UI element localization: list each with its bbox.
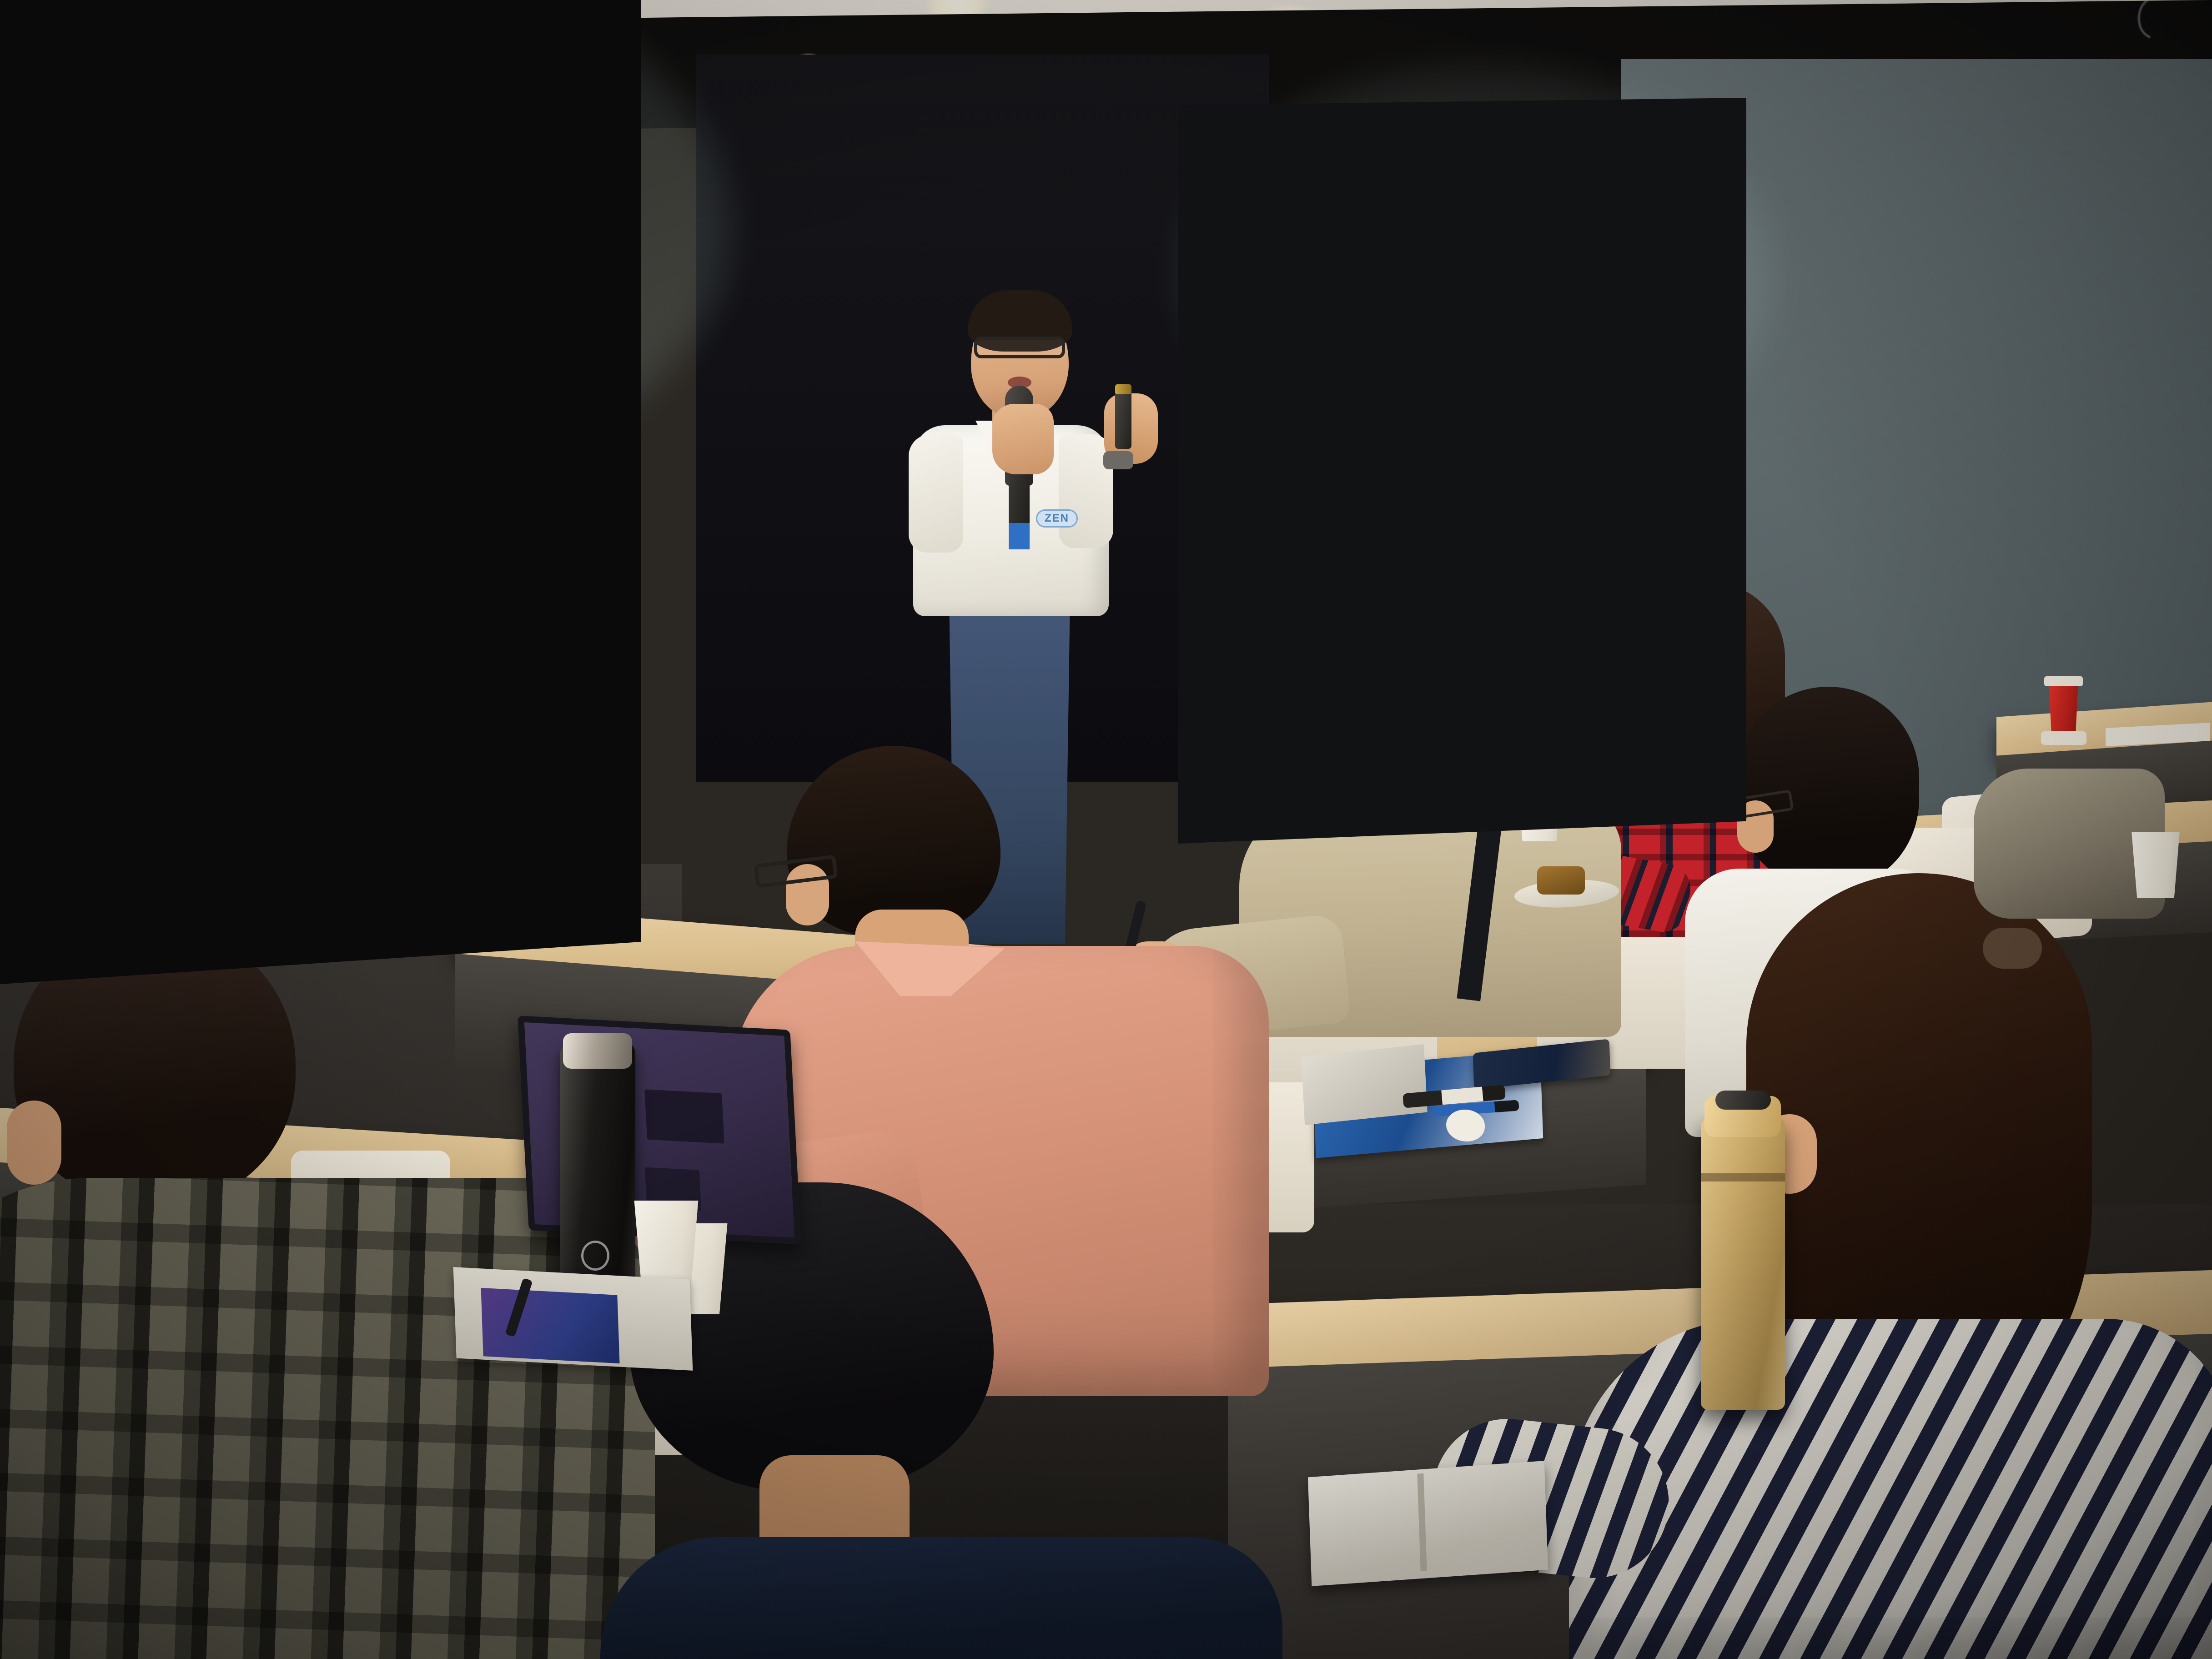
red-coffee-cup-lid [2044,676,2083,686]
notepad-open[interactable] [1308,1461,1548,1586]
microphone-band [1009,523,1030,549]
audience-striped-woman [1583,910,2212,1659]
brochure-left[interactable] [481,1288,619,1363]
white-shirt-man-hair [1737,687,1919,887]
presenter-shirt-logo-text: ZEN [1045,512,1069,525]
gold-thermos-cap-top [1715,1091,1771,1110]
lecture-hall-photo: 化 轉換率優化 otimization,CRO)，是 把網站的訪客變成顧客 程。… [0,0,2212,1659]
presenter-right-hand [992,404,1054,474]
presenter-wristwatch [1103,451,1133,469]
white-paper-cup-2[interactable] [630,1201,703,1287]
plaid-fg-ear [7,1101,61,1185]
red-coffee-cup[interactable] [2046,681,2081,738]
handout-mid[interactable] [1301,1044,1427,1125]
black-cap-top [600,1537,1282,1659]
gold-thermos-band [1701,1173,1785,1181]
white-paper-cup-3[interactable] [2128,832,2183,898]
black-water-bottle-cap[interactable] [563,1033,632,1069]
presenter-right-sleeve [1059,434,1113,548]
striped-woman-hair-tie [1983,928,2042,969]
laser-pointer[interactable] [1115,387,1131,449]
plaid-fg-shirt [0,1178,655,1659]
right-screen-frame [1178,98,1746,844]
presenter-shirt-logo: ZEN [1036,509,1078,528]
presenter-left-sleeve [909,434,963,553]
gold-thermos[interactable] [1701,1119,1785,1410]
left-screen-frame [0,0,641,991]
snack-item [1537,866,1585,895]
laptop-screen-content [644,1089,724,1143]
laser-pointer-tip [1115,384,1131,394]
red-coffee-cup-sleeve [2041,731,2086,745]
tissue-ball [1446,1110,1485,1141]
presenter-glasses [974,337,1065,358]
black-water-bottle-logo [581,1241,609,1271]
